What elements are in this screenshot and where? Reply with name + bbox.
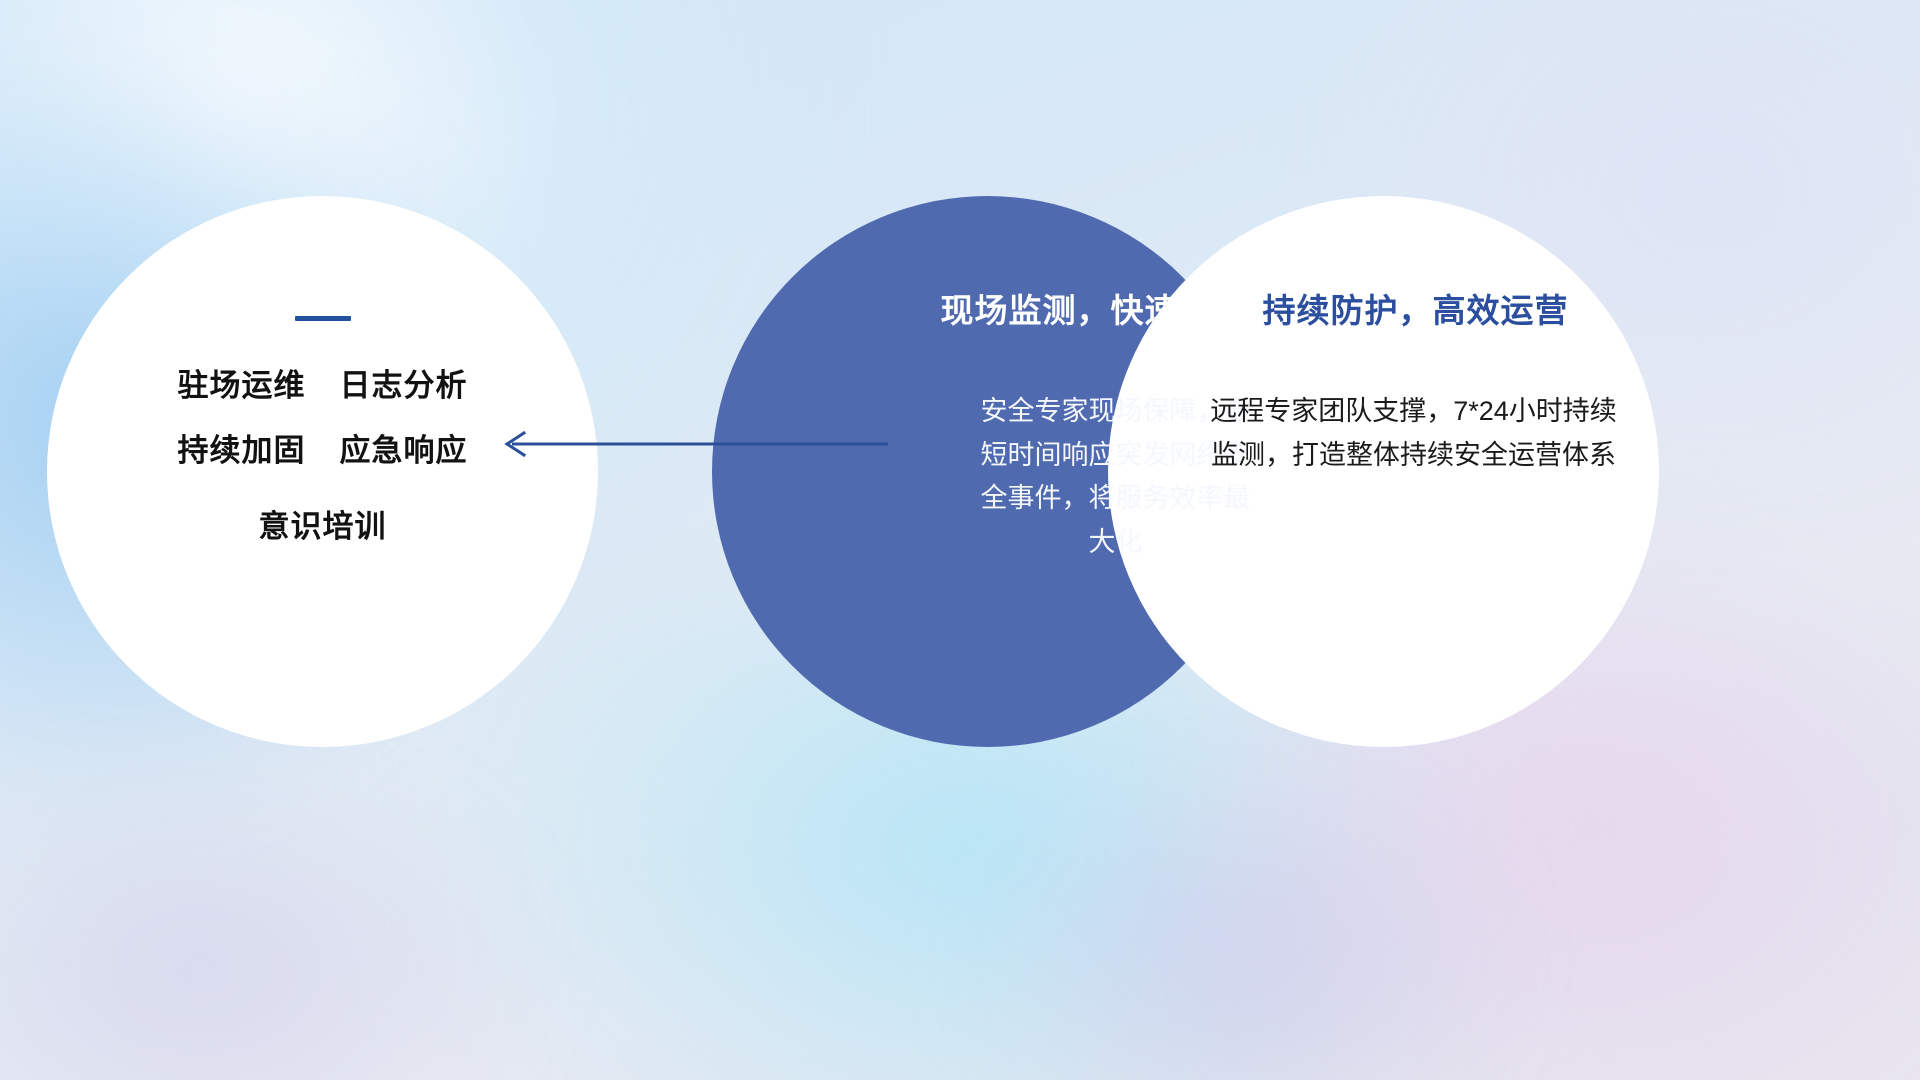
keyword-item: 日志分析 — [340, 365, 468, 408]
keyword-row-2: 持续加固 应急响应 — [178, 430, 468, 473]
accent-divider — [295, 316, 351, 321]
keyword-item: 应急响应 — [340, 430, 468, 473]
background-glow-lavender-center — [980, 760, 1500, 1080]
keyword-item: 持续加固 — [178, 430, 306, 473]
keyword-item-single: 意识培训 — [259, 501, 387, 546]
keyword-item: 驻场运维 — [178, 365, 306, 408]
slide-canvas: 驻场运维 日志分析 持续加固 应急响应 意识培训 现场监测，快速响应 安全专家现… — [0, 0, 1920, 1080]
right-circle-content: 持续防护，高效运营 远程专家团队支撑，7*24小时持续监测，打造整体持续安全运营… — [1108, 196, 1659, 747]
right-circle-body: 远程专家团队支撑，7*24小时持续监测，打造整体持续安全运营体系 — [1209, 390, 1619, 477]
right-circle-title: 持续防护，高效运营 — [1263, 284, 1569, 332]
background-glow-lavender-left — [0, 760, 520, 1080]
keyword-row-1: 驻场运维 日志分析 — [178, 365, 468, 408]
